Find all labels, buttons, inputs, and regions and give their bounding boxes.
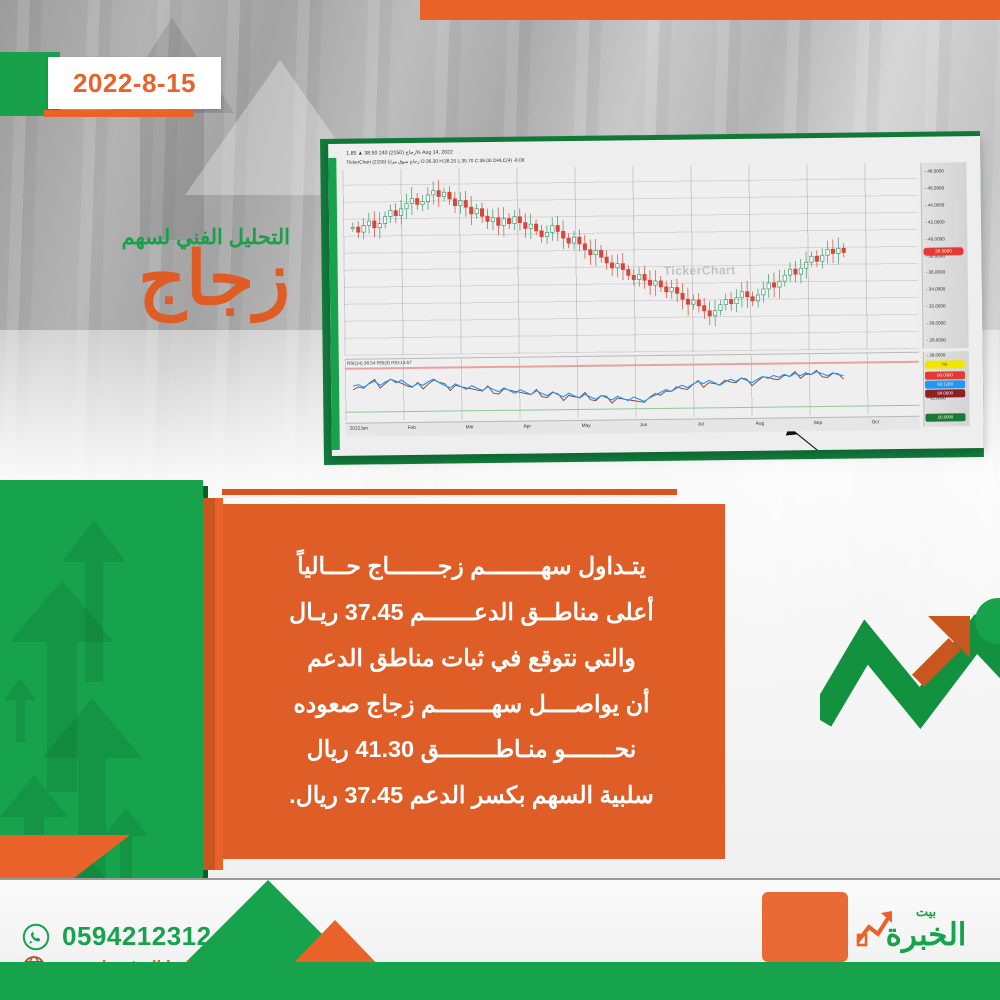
analysis-line: والتي نتوقع في ثبات مناطق الدعم: [257, 636, 687, 682]
analysis-text: يتـداول سهــــــــم زجـــــــاج حـــاليا…: [257, 544, 687, 819]
time-tick-label: Sep: [814, 421, 823, 426]
time-tick-label: Apr: [524, 425, 532, 430]
price-tick-label: - 44.0000: [925, 202, 944, 207]
date-badge: 2022-8-15: [48, 57, 221, 109]
logo-backdrop: [762, 892, 848, 962]
divider-rule: [222, 489, 677, 495]
analysis-card: يتـداول سهــــــــم زجـــــــاج حـــاليا…: [218, 504, 725, 859]
chart-header-line-1: زجاج (2150) 240 38.50 ▲ 1.85% Aug 14, 20…: [346, 149, 453, 156]
phone-number: 0594212312: [62, 921, 212, 952]
orange-strip: [215, 498, 223, 870]
last-price-tag: 38.5000: [923, 247, 963, 255]
price-tick-label: - 28.0000: [927, 337, 946, 342]
chart-card: زجاج (2150) 240 38.50 ▲ 1.85% Aug 14, 20…: [328, 136, 984, 456]
price-axis: - 48.0000- 46.0000- 44.0000- 42.0000- 40…: [920, 162, 968, 349]
time-tick-label: Mar: [466, 425, 474, 430]
rsi-plot-area[interactable]: RSI(14) 38.54 RSI(3) RSI:14.67: [345, 352, 920, 421]
whatsapp-icon: [22, 923, 50, 951]
footer-green-bar: [0, 962, 1000, 1000]
time-tick-label: May: [582, 424, 591, 429]
date-text: 2022-8-15: [73, 68, 196, 99]
headline: التحليل الفني لسهم زجاج: [0, 225, 290, 314]
rsi-axis: - 28.0000- 42.0000Vol.90.000068.120064.0…: [923, 351, 970, 427]
chart-watermark: TickerChart: [664, 263, 736, 278]
arrow-pattern-icon: [62, 520, 126, 682]
divider-rule-shadow: [222, 496, 677, 498]
price-tick-label: - 46.0000: [925, 185, 944, 190]
arrow-pattern-icon: [4, 678, 36, 742]
contact-phone[interactable]: 0594212312: [22, 921, 212, 952]
logo-growth-arrow-icon: [856, 907, 896, 947]
rsi-overbought-tag: 90.0000: [925, 371, 965, 379]
time-tick-label: Feb: [408, 426, 416, 431]
rsi-header: RSI(14) 38.54 RSI(3) RSI:14.67: [347, 360, 412, 366]
date-underline: [44, 110, 194, 117]
green-panel: [0, 480, 203, 894]
analysis-line: نحـــــــو منـاطــــــــق 41.30 ريال: [257, 727, 687, 773]
rsi-fast-tag: 68.1200: [925, 380, 965, 388]
logo[interactable]: بيت الخبرة: [862, 905, 990, 971]
analysis-line: يتـداول سهــــــــم زجـــــــاج حـــاليا…: [257, 544, 687, 590]
price-tick-label: - 32.0000: [926, 304, 945, 309]
price-tick-label: - 30.0000: [926, 321, 945, 326]
price-tick-label: - 42.0000: [925, 219, 944, 224]
analysis-line: سلبية السهم بكسر الدعم 37.45 ريال.: [257, 773, 687, 819]
price-tick-label: - 48.0000: [924, 168, 943, 173]
time-tick-label: Jul: [698, 422, 704, 427]
headline-main: زجاج: [0, 244, 290, 314]
rsi-slow-tag: 64.0600: [925, 389, 965, 397]
price-tick-label: - 34.0000: [926, 287, 945, 292]
time-tick-label: 2022Jan: [350, 427, 368, 432]
volume-tag: Vol.: [925, 360, 965, 368]
price-grid: [342, 163, 918, 356]
price-plot-area[interactable]: TickerChart 41.3037.45: [342, 163, 918, 356]
time-tick-label: Aug: [756, 422, 765, 427]
time-tick-label: Oct: [872, 420, 880, 425]
analysis-line: أعلى مناطــق الدعـــــــم 37.45 ريـال: [257, 590, 687, 636]
price-tick-label: - 36.0000: [926, 270, 945, 275]
top-orange-bar: [420, 0, 1000, 20]
up-right-arrow-icon: [900, 612, 980, 692]
price-tick-label: - 40.0000: [925, 236, 944, 241]
rsi-tick-label: - 28.0000: [927, 352, 946, 357]
chart-header-line-2: TickerChart زجاج سوق مزايا (2150) O:36.3…: [346, 159, 524, 166]
orange-strip-dark: [203, 498, 215, 870]
time-tick-label: Jun: [640, 423, 648, 428]
analysis-line: أن يواصــــل سهــــــــم زجاج صعوده: [257, 682, 687, 728]
rsi-oversold-tag: 10.0000: [925, 413, 965, 421]
